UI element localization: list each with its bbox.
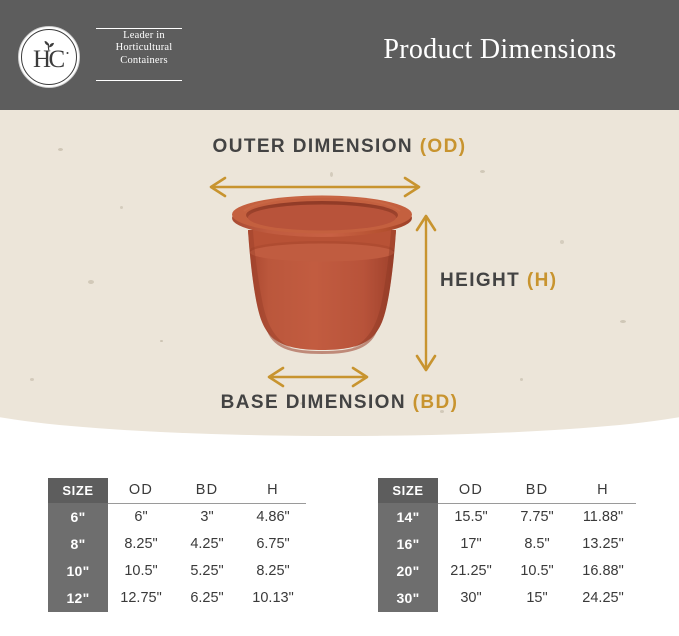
table-row: 6" 6" 3" 4.86" — [48, 504, 306, 531]
logo-tagline-line-2: Horticultural — [96, 42, 192, 54]
cell-bd: 15" — [504, 585, 570, 612]
cell-size: 30" — [378, 585, 438, 612]
cell-h: 24.25" — [570, 585, 636, 612]
outer-dimension-label: OUTER DIMENSION (OD) — [0, 136, 679, 158]
cell-bd: 3" — [174, 504, 240, 531]
cell-size: 14" — [378, 504, 438, 531]
column-header-size: SIZE — [48, 478, 108, 503]
table-head: SIZE OD BD H — [48, 478, 306, 504]
column-header-od: OD — [438, 478, 504, 503]
cell-bd: 7.75" — [504, 504, 570, 531]
cell-bd: 6.25" — [174, 585, 240, 612]
brand-logo: H C — [18, 26, 80, 88]
table-row: 12" 12.75" 6.25" 10.13" — [48, 585, 306, 612]
cell-size: 12" — [48, 585, 108, 612]
table-row: 20" 21.25" 10.5" 16.88" — [378, 558, 636, 585]
table-row: 16" 17" 8.5" 13.25" — [378, 531, 636, 558]
cell-bd: 4.25" — [174, 531, 240, 558]
outer-dimension-text: OUTER DIMENSION — [213, 136, 413, 157]
height-label: HEIGHT (H) — [440, 270, 557, 292]
table-header-row: SIZE OD BD H — [48, 478, 306, 503]
column-header-h: H — [570, 478, 636, 503]
cell-od: 17" — [438, 531, 504, 558]
logo-tagline-rule-top — [96, 28, 182, 29]
cell-od: 30" — [438, 585, 504, 612]
cell-size: 16" — [378, 531, 438, 558]
logo-tagline-line-1: Leader in — [96, 30, 192, 42]
cell-od: 8.25" — [108, 531, 174, 558]
terracotta-pot-illustration — [222, 194, 422, 374]
cell-bd: 8.5" — [504, 531, 570, 558]
diagram-panel: OUTER DIMENSION (OD) — [0, 110, 679, 436]
height-abbr: (H) — [527, 270, 558, 291]
column-header-bd: BD — [504, 478, 570, 503]
table-body: 14" 15.5" 7.75" 11.88" 16" 17" 8.5" 13.2… — [378, 504, 636, 612]
cell-bd: 5.25" — [174, 558, 240, 585]
base-dimension-text: BASE DIMENSION — [221, 392, 406, 413]
column-header-h: H — [240, 478, 306, 503]
cell-od: 12.75" — [108, 585, 174, 612]
cell-size: 20" — [378, 558, 438, 585]
dimensions-table-left-grid: SIZE OD BD H 6" 6" 3" 4.86" 8" 8.25" — [48, 478, 306, 612]
outer-dimension-abbr: (OD) — [420, 136, 467, 157]
table-row: 10" 10.5" 5.25" 8.25" — [48, 558, 306, 585]
dimensions-table-right-grid: SIZE OD BD H 14" 15.5" 7.75" 11.88" 16" — [378, 478, 636, 612]
cell-h: 4.86" — [240, 504, 306, 531]
cell-size: 8" — [48, 531, 108, 558]
cell-bd: 10.5" — [504, 558, 570, 585]
cell-od: 10.5" — [108, 558, 174, 585]
cell-size: 10" — [48, 558, 108, 585]
cell-size: 6" — [48, 504, 108, 531]
cell-od: 15.5" — [438, 504, 504, 531]
base-dimension-abbr: (BD) — [413, 392, 459, 413]
logo-hc-monogram-icon: H C — [18, 26, 80, 88]
logo-tagline-rule-bottom — [96, 80, 182, 81]
dimensions-table-right: SIZE OD BD H 14" 15.5" 7.75" 11.88" 16" — [378, 478, 636, 612]
logo-tagline-line-3: Containers — [96, 55, 192, 67]
dimensions-table-left: SIZE OD BD H 6" 6" 3" 4.86" 8" 8.25" — [48, 478, 306, 612]
column-header-size: SIZE — [378, 478, 438, 503]
cell-h: 8.25" — [240, 558, 306, 585]
table-body: 6" 6" 3" 4.86" 8" 8.25" 4.25" 6.75" 10" … — [48, 504, 306, 612]
column-header-bd: BD — [174, 478, 240, 503]
base-dimension-label: BASE DIMENSION (BD) — [0, 392, 679, 414]
table-head: SIZE OD BD H — [378, 478, 636, 504]
cell-h: 13.25" — [570, 531, 636, 558]
cell-h: 10.13" — [240, 585, 306, 612]
cell-od: 6" — [108, 504, 174, 531]
cell-od: 21.25" — [438, 558, 504, 585]
table-row: 14" 15.5" 7.75" 11.88" — [378, 504, 636, 531]
page-header: H C Leader in Horticultural Containers P… — [0, 0, 679, 110]
height-text: HEIGHT — [440, 270, 520, 291]
base-dimension-arrow-icon — [263, 365, 373, 389]
table-row: 8" 8.25" 4.25" 6.75" — [48, 531, 306, 558]
cell-h: 6.75" — [240, 531, 306, 558]
height-arrow-icon — [414, 210, 438, 376]
column-header-od: OD — [108, 478, 174, 503]
table-header-row: SIZE OD BD H — [378, 478, 636, 503]
logo-tagline: Leader in Horticultural Containers — [96, 30, 192, 67]
table-row: 30" 30" 15" 24.25" — [378, 585, 636, 612]
page-title: Product Dimensions — [330, 34, 670, 66]
cell-h: 16.88" — [570, 558, 636, 585]
cell-h: 11.88" — [570, 504, 636, 531]
svg-text:C: C — [49, 46, 66, 73]
